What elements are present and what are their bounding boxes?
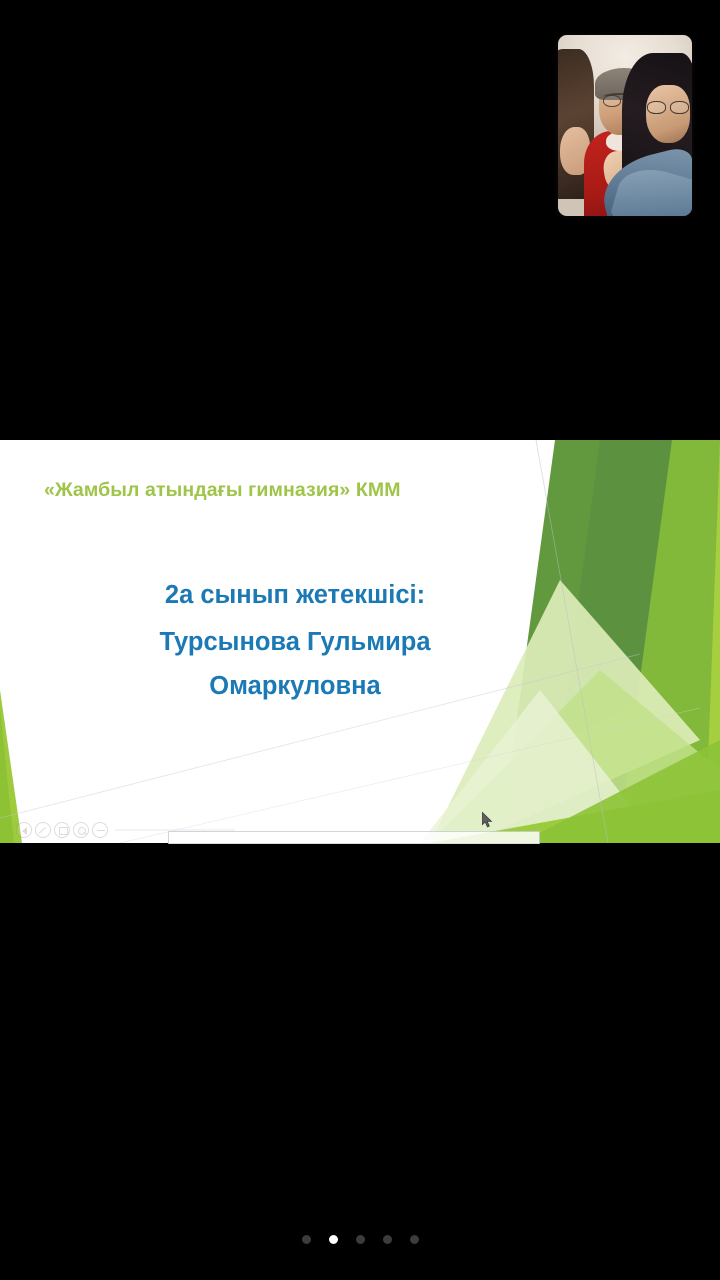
slide-title-text: 2а сынып жетекшісі: [60, 570, 530, 620]
page-dot[interactable] [356, 1235, 365, 1244]
previous-slide-icon[interactable] [4, 822, 13, 838]
pen-icon[interactable] [35, 822, 51, 838]
page-dot[interactable] [383, 1235, 392, 1244]
participant-right-glasses-icon [647, 101, 689, 112]
mouse-pointer-icon [482, 812, 493, 828]
participant-right-face [646, 85, 690, 143]
more-options-icon[interactable] [92, 822, 108, 838]
slide-presenter-name: Турсынова Гульмира Омаркуловна [60, 620, 530, 708]
all-slides-icon[interactable] [54, 822, 70, 838]
video-call-thumbnail[interactable] [558, 35, 692, 216]
play-control-icon[interactable] [16, 822, 32, 838]
screen-root: «Жамбыл атындағы гимназия» КММ 2а сынып … [0, 0, 720, 1280]
presenter-panel-outline [168, 831, 540, 844]
slide-presenter-name-line2: Омаркуловна [60, 664, 530, 708]
page-dot[interactable] [302, 1235, 311, 1244]
page-dot-active[interactable] [329, 1235, 338, 1244]
slide-header-text: «Жамбыл атындағы гимназия» КММ [44, 479, 514, 502]
page-dot[interactable] [410, 1235, 419, 1244]
zoom-in-icon[interactable] [73, 822, 89, 838]
pagination-dots[interactable] [0, 1235, 720, 1244]
slide-presenter-name-line1: Турсынова Гульмира [60, 620, 530, 664]
